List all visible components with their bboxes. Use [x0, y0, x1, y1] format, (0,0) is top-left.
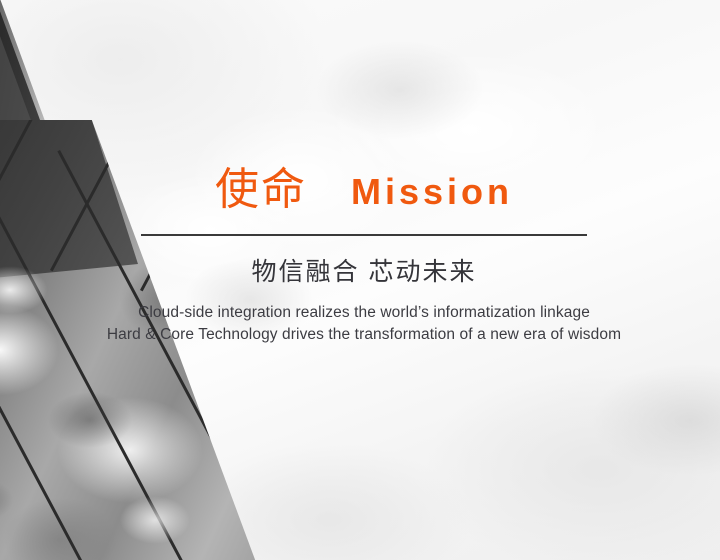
tagline-line-1: Cloud-side integration realizes the worl…: [60, 302, 668, 324]
mission-banner: 使命 Mission 物信融合 芯动未来 Cloud-side integrat…: [0, 0, 720, 560]
heading-english: Mission: [351, 174, 513, 210]
tagline-line-2: Hard & Core Technology drives the transf…: [60, 324, 668, 346]
subtitle-chinese: 物信融合 芯动未来: [141, 258, 587, 287]
tagline-block: Cloud-side integration realizes the worl…: [60, 302, 668, 346]
heading-divider: [141, 234, 587, 236]
heading-chinese: 使命: [215, 168, 307, 212]
banner-heading: 使命 Mission: [141, 168, 587, 212]
banner-content: 使命 Mission 物信融合 芯动未来 Cloud-side integrat…: [0, 0, 720, 560]
